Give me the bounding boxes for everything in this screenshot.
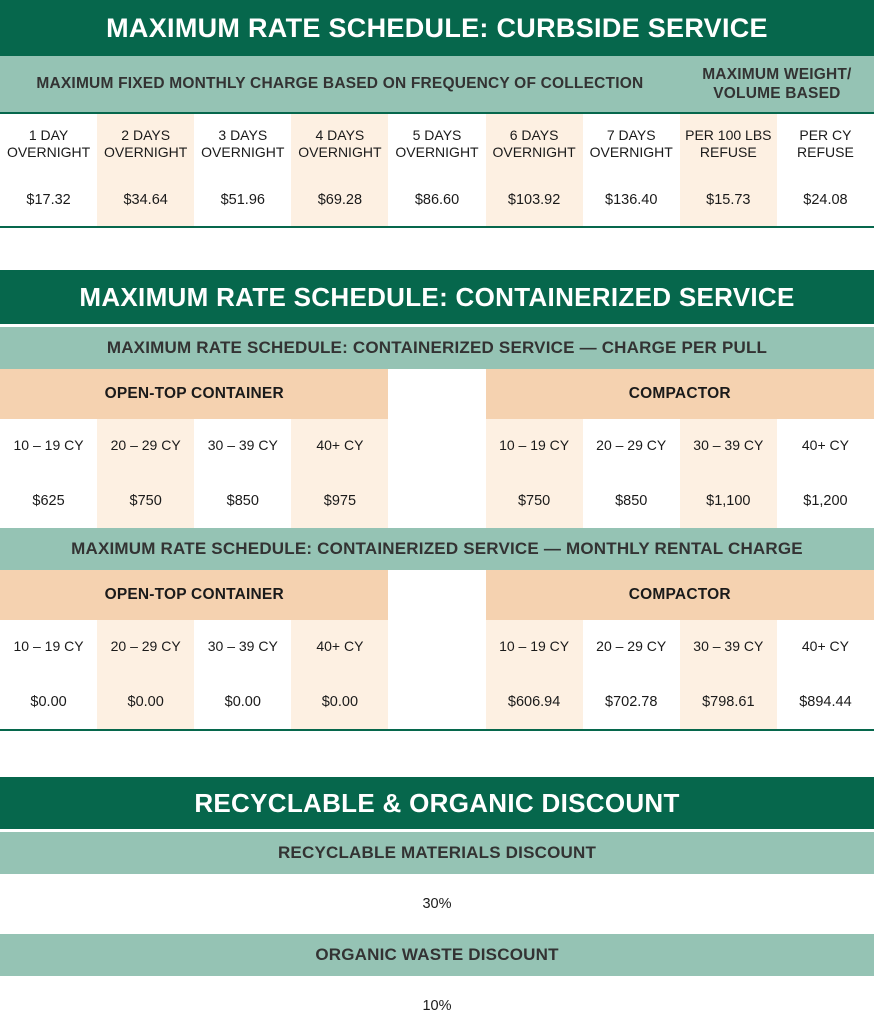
curbside-col-header-8: PER 100 LBS REFUSE: [680, 113, 777, 174]
per-pull-group-band-row: OPEN-TOP CONTAINER COMPACTOR: [0, 369, 874, 419]
per-pull-group-compactor: COMPACTOR: [486, 369, 874, 419]
per-pull-right-value-3: $1,100: [680, 473, 777, 528]
per-pull-value-row: $625 $750 $850 $975 $750 $850 $1,100 $1,…: [0, 473, 874, 528]
per-pull-right-col-header-1: 10 – 19 CY: [486, 419, 583, 473]
per-pull-left-value-1: $625: [0, 473, 97, 528]
per-pull-right-col-header-2: 20 – 29 CY: [583, 419, 680, 473]
curbside-col-header-9: PER CY REFUSE: [777, 113, 874, 174]
per-pull-left-col-header-3: 30 – 39 CY: [194, 419, 291, 473]
curbside-col-header-3: 3 DAYS OVERNIGHT: [194, 113, 291, 174]
rate-schedule-page: MAXIMUM RATE SCHEDULE: CURBSIDE SERVICE …: [0, 0, 874, 1024]
curbside-col-header-7: 7 DAYS OVERNIGHT: [583, 113, 680, 174]
organic-discount-label: ORGANIC WASTE DISCOUNT: [0, 934, 874, 976]
discount-banner: RECYCLABLE & ORGANIC DISCOUNT: [0, 777, 874, 829]
monthly-rental-left-value-1: $0.00: [0, 674, 97, 729]
curbside-value-2: $34.64: [97, 174, 194, 227]
curbside-col-header-6: 6 DAYS OVERNIGHT: [486, 113, 583, 174]
per-pull-left-col-header-1: 10 – 19 CY: [0, 419, 97, 473]
monthly-rental-left-value-4: $0.00: [291, 674, 388, 729]
per-pull-left-value-3: $850: [194, 473, 291, 528]
per-pull-left-value-2: $750: [97, 473, 194, 528]
monthly-rental-header-gap: [388, 620, 485, 674]
monthly-rental-subheader: MAXIMUM RATE SCHEDULE: CONTAINERIZED SER…: [0, 528, 874, 570]
per-pull-column-header-row: 10 – 19 CY 20 – 29 CY 30 – 39 CY 40+ CY …: [0, 419, 874, 473]
curbside-value-row: $17.32 $34.64 $51.96 $69.28 $86.60 $103.…: [0, 174, 874, 227]
monthly-rental-right-col-header-1: 10 – 19 CY: [486, 620, 583, 674]
recyclable-discount-label: RECYCLABLE MATERIALS DISCOUNT: [0, 832, 874, 874]
containerized-banner: MAXIMUM RATE SCHEDULE: CONTAINERIZED SER…: [0, 270, 874, 324]
per-pull-right-col-header-4: 40+ CY: [777, 419, 874, 473]
per-pull-right-value-4: $1,200: [777, 473, 874, 528]
per-pull-left-col-header-4: 40+ CY: [291, 419, 388, 473]
organic-discount-value: 10%: [0, 976, 874, 1036]
monthly-rental-column-header-row: 10 – 19 CY 20 – 29 CY 30 – 39 CY 40+ CY …: [0, 620, 874, 674]
per-pull-group-open-top: OPEN-TOP CONTAINER: [0, 369, 388, 419]
per-pull-table: OPEN-TOP CONTAINER COMPACTOR 10 – 19 CY …: [0, 369, 874, 528]
per-pull-header-gap: [388, 419, 485, 473]
monthly-rental-table: OPEN-TOP CONTAINER COMPACTOR 10 – 19 CY …: [0, 570, 874, 729]
per-pull-right-value-1: $750: [486, 473, 583, 528]
monthly-rental-right-col-header-2: 20 – 29 CY: [583, 620, 680, 674]
per-pull-subheader: MAXIMUM RATE SCHEDULE: CONTAINERIZED SER…: [0, 327, 874, 369]
curbside-value-1: $17.32: [0, 174, 97, 227]
curbside-value-4: $69.28: [291, 174, 388, 227]
monthly-rental-left-col-header-1: 10 – 19 CY: [0, 620, 97, 674]
recyclable-discount-value: 30%: [0, 874, 874, 934]
curbside-banner: MAXIMUM RATE SCHEDULE: CURBSIDE SERVICE: [0, 0, 874, 56]
curbside-group-header-row: MAXIMUM FIXED MONTHLY CHARGE BASED ON FR…: [0, 56, 874, 113]
monthly-rental-left-col-header-4: 40+ CY: [291, 620, 388, 674]
monthly-rental-band-gap: [388, 570, 485, 620]
per-pull-band-gap: [388, 369, 485, 419]
monthly-rental-right-value-4: $894.44: [777, 674, 874, 729]
monthly-rental-left-col-header-2: 20 – 29 CY: [97, 620, 194, 674]
curbside-value-3: $51.96: [194, 174, 291, 227]
curbside-table: MAXIMUM FIXED MONTHLY CHARGE BASED ON FR…: [0, 56, 874, 228]
monthly-rental-value-row: $0.00 $0.00 $0.00 $0.00 $606.94 $702.78 …: [0, 674, 874, 729]
monthly-rental-group-compactor: COMPACTOR: [486, 570, 874, 620]
monthly-rental-group-band-row: OPEN-TOP CONTAINER COMPACTOR: [0, 570, 874, 620]
per-pull-value-gap: [388, 473, 485, 528]
curbside-value-7: $136.40: [583, 174, 680, 227]
curbside-col-header-4: 4 DAYS OVERNIGHT: [291, 113, 388, 174]
curbside-column-header-row: 1 DAY OVERNIGHT 2 DAYS OVERNIGHT 3 DAYS …: [0, 113, 874, 174]
curbside-col-header-1: 1 DAY OVERNIGHT: [0, 113, 97, 174]
per-pull-left-col-header-2: 20 – 29 CY: [97, 419, 194, 473]
monthly-rental-right-value-2: $702.78: [583, 674, 680, 729]
monthly-rental-left-value-2: $0.00: [97, 674, 194, 729]
curbside-col-header-5: 5 DAYS OVERNIGHT: [388, 113, 485, 174]
curbside-col-header-2: 2 DAYS OVERNIGHT: [97, 113, 194, 174]
curbside-value-6: $103.92: [486, 174, 583, 227]
curbside-value-9: $24.08: [777, 174, 874, 227]
monthly-rental-left-col-header-3: 30 – 39 CY: [194, 620, 291, 674]
curbside-group-header-fixed-monthly: MAXIMUM FIXED MONTHLY CHARGE BASED ON FR…: [0, 56, 680, 113]
per-pull-right-value-2: $850: [583, 473, 680, 528]
curbside-value-5: $86.60: [388, 174, 485, 227]
section-gap-2: [0, 729, 874, 777]
monthly-rental-value-gap: [388, 674, 485, 729]
per-pull-left-value-4: $975: [291, 473, 388, 528]
curbside-value-8: $15.73: [680, 174, 777, 227]
per-pull-right-col-header-3: 30 – 39 CY: [680, 419, 777, 473]
curbside-group-header-weight-volume: MAXIMUM WEIGHT/ VOLUME BASED: [680, 56, 874, 113]
section-gap-1: [0, 228, 874, 270]
monthly-rental-right-col-header-4: 40+ CY: [777, 620, 874, 674]
monthly-rental-right-value-3: $798.61: [680, 674, 777, 729]
monthly-rental-group-open-top: OPEN-TOP CONTAINER: [0, 570, 388, 620]
monthly-rental-right-value-1: $606.94: [486, 674, 583, 729]
monthly-rental-right-col-header-3: 30 – 39 CY: [680, 620, 777, 674]
monthly-rental-left-value-3: $0.00: [194, 674, 291, 729]
